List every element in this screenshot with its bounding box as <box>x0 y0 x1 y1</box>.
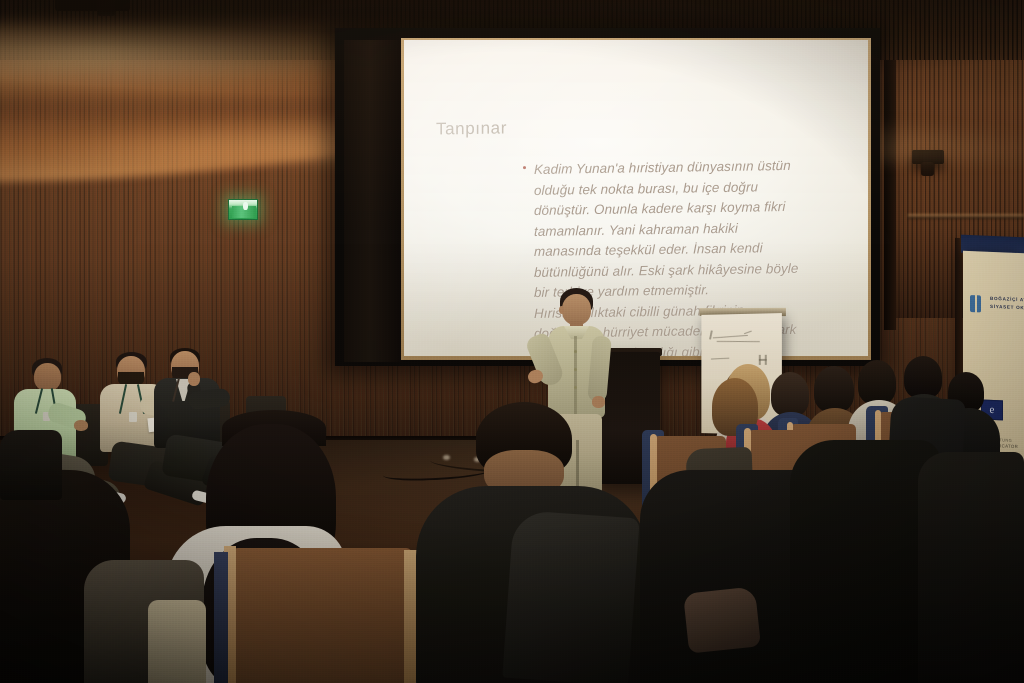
presenter-shirt-button <box>574 386 577 389</box>
wall-speaker-mount-icon <box>921 162 934 176</box>
flipchart-writing <box>711 358 729 360</box>
attendee-hand <box>188 372 200 386</box>
banner-logo-icon <box>970 295 986 313</box>
foreground-chair-arm <box>148 600 206 683</box>
presenter-ear <box>559 306 564 314</box>
foreground-chair-side <box>214 552 228 683</box>
presenter-shirt-button <box>574 368 577 371</box>
screen-curtain-left <box>344 40 402 362</box>
attendee-hand <box>74 420 88 431</box>
banner-logo-bar-right <box>977 295 982 312</box>
flipchart-writing <box>713 335 748 339</box>
audience-hair <box>771 372 809 416</box>
conference-photo: Tanpınar Kadim Yunan'a hıristiyan dünyas… <box>0 0 1024 683</box>
audience-hair <box>858 360 896 404</box>
auditorium-chair <box>0 430 62 500</box>
presenter-shirt-button <box>574 350 577 353</box>
slide-title: Tanpınar <box>436 118 507 139</box>
banner-logo-bar-left <box>970 295 975 312</box>
foreground-attendee-dark <box>918 452 1024 683</box>
banner-org-line-2: SİYASET OKU <box>990 304 1024 311</box>
foreground-chair-back <box>232 548 412 683</box>
handbag <box>683 586 761 653</box>
foreground-attendee-black-shirt <box>430 402 640 683</box>
flipchart-writing <box>717 341 760 342</box>
flipchart-writing <box>744 331 752 335</box>
audience-hair <box>904 356 942 398</box>
name-badge <box>129 412 137 422</box>
projection-screen: Tanpınar Kadim Yunan'a hıristiyan dünyas… <box>404 40 868 356</box>
wall-horizontal-seam <box>908 214 1024 219</box>
attendee-backpack-strap <box>502 510 639 683</box>
attendee-head <box>34 363 61 391</box>
attendee-arm <box>187 388 231 410</box>
exit-sign <box>228 199 258 220</box>
slide-bullet-marker-icon <box>523 166 526 169</box>
banner-org-line-1: BOĞAZİÇİ AVR <box>990 296 1024 303</box>
flipchart-writing <box>759 359 767 361</box>
exit-running-man-icon <box>243 202 248 210</box>
